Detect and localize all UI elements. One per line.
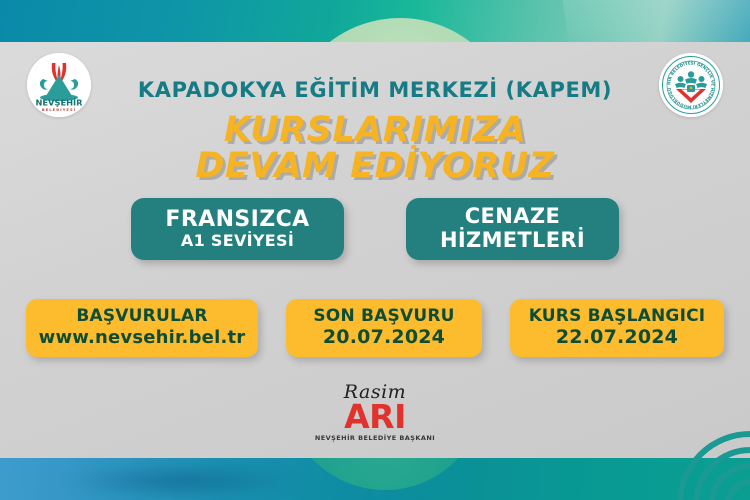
- bottom-green-arc: [285, 458, 485, 490]
- mayor-signature: Rasim ARI NEVŞEHİR BELEDİYE BAŞKANI: [0, 383, 750, 441]
- headline-line-1: KURSLARIMIZA: [224, 110, 526, 150]
- info-value-date: 20.07.2024: [323, 326, 445, 349]
- info-card-kurs-baslangici[interactable]: KURS BAŞLANGICI 22.07.2024: [510, 299, 724, 357]
- info-list: BAŞVURULAR www.nevsehir.bel.tr SON BAŞVU…: [26, 299, 724, 357]
- top-sheen-highlight: [561, 0, 750, 42]
- institution-title: KAPADOKYA EĞİTİM MERKEZİ (KAPEM): [0, 78, 750, 102]
- top-green-arc: [285, 18, 515, 42]
- info-label: BAŞVURULAR: [76, 307, 207, 327]
- info-card-basvurular[interactable]: BAŞVURULAR www.nevsehir.bel.tr: [26, 299, 258, 357]
- bottom-blur-blob: [60, 464, 300, 498]
- headline: KURSLARIMIZA DEVAM EDİYORUZ: [0, 112, 750, 184]
- course-card-fransizca[interactable]: FRANSIZCA A1 SEVİYESİ: [131, 198, 344, 260]
- course-name: CENAZE: [465, 205, 561, 229]
- info-label: SON BAŞVURU: [313, 307, 454, 327]
- info-label: KURS BAŞLANGICI: [529, 307, 706, 327]
- info-value-date: 22.07.2024: [556, 326, 678, 349]
- course-level: HİZMETLERİ: [440, 229, 585, 253]
- course-level: A1 SEVİYESİ: [181, 232, 294, 250]
- info-card-son-basvuru[interactable]: SON BAŞVURU 20.07.2024: [286, 299, 482, 357]
- headline-line-2: DEVAM EDİYORUZ: [0, 148, 750, 184]
- course-list: FRANSIZCA A1 SEVİYESİ CENAZE HİZMETLERİ: [0, 198, 750, 260]
- poster-canvas: NEVŞEHİR BELEDİYESİ NEVŞEHİR BELEDİYESİ …: [0, 0, 750, 500]
- course-name: FRANSIZCA: [165, 208, 309, 232]
- signature-last-name: ARI: [0, 400, 750, 434]
- course-card-cenaze-hizmetleri[interactable]: CENAZE HİZMETLERİ: [406, 198, 619, 260]
- signature-role: NEVŞEHİR BELEDİYE BAŞKANI: [0, 435, 750, 442]
- info-value-website[interactable]: www.nevsehir.bel.tr: [39, 327, 246, 349]
- top-decorative-band: [0, 0, 750, 42]
- bottom-decorative-band: [0, 458, 750, 500]
